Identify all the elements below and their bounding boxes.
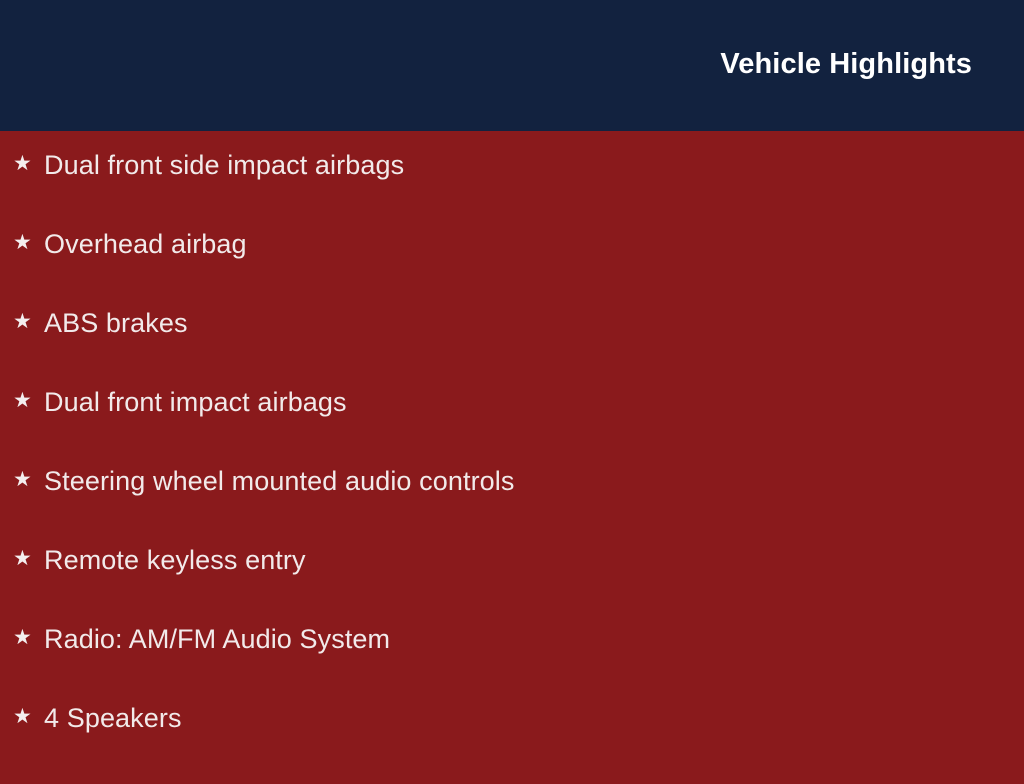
- list-item-label: Dual front side impact airbags: [44, 152, 404, 179]
- list-item-label: Steering wheel mounted audio controls: [44, 468, 515, 495]
- list-item-label: ABS brakes: [44, 310, 188, 337]
- list-item: ★ Steering wheel mounted audio controls: [0, 468, 1024, 547]
- list-item: ★ ABS brakes: [0, 310, 1024, 389]
- list-item: ★ Dual front side impact airbags: [0, 152, 1024, 231]
- star-icon: ★: [13, 153, 44, 174]
- vehicle-highlights-slide: Vehicle Highlights ★ Dual front side imp…: [0, 0, 1024, 768]
- star-icon: ★: [13, 390, 44, 411]
- list-item: ★ Dual front impact airbags: [0, 389, 1024, 468]
- star-icon: ★: [13, 627, 44, 648]
- list-item-label: 4 Speakers: [44, 705, 182, 732]
- list-item-label: Dual front impact airbags: [44, 389, 347, 416]
- list-item: ★ Overhead airbag: [0, 231, 1024, 310]
- list-item: ★ 4 Speakers: [0, 705, 1024, 784]
- slide-header-band: Vehicle Highlights: [0, 0, 1024, 131]
- page-title: Vehicle Highlights: [720, 50, 972, 79]
- star-icon: ★: [13, 469, 44, 490]
- list-item-label: Overhead airbag: [44, 231, 247, 258]
- list-item-label: Remote keyless entry: [44, 547, 306, 574]
- vehicle-highlights-list: ★ Dual front side impact airbags ★ Overh…: [0, 152, 1024, 784]
- star-icon: ★: [13, 232, 44, 253]
- star-icon: ★: [13, 548, 44, 569]
- slide-body: ★ Dual front side impact airbags ★ Overh…: [0, 131, 1024, 784]
- star-icon: ★: [13, 311, 44, 332]
- star-icon: ★: [13, 706, 44, 727]
- list-item: ★ Radio: AM/FM Audio System: [0, 626, 1024, 705]
- list-item-label: Radio: AM/FM Audio System: [44, 626, 390, 653]
- list-item: ★ Remote keyless entry: [0, 547, 1024, 626]
